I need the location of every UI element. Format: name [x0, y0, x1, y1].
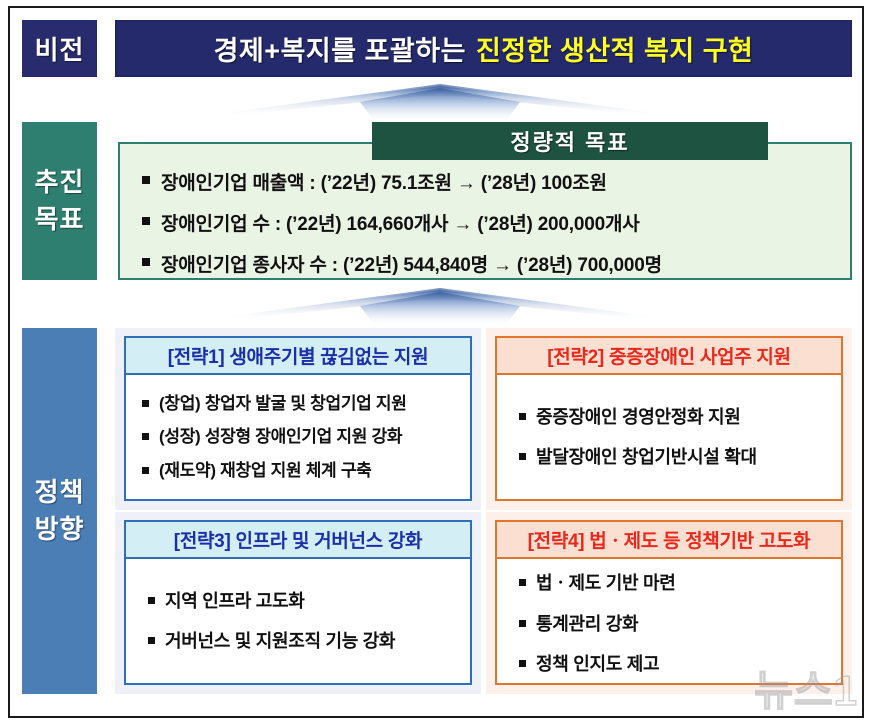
- goal-item-text: 장애인기업 수 : (’22년) 164,660개사 → (’28년) 200,…: [161, 209, 640, 236]
- vision-tag-label: 비전: [22, 20, 97, 77]
- strategy-item-text: (성장) 성장형 장애인기업 지원 강화: [159, 426, 402, 447]
- strategy-item-text: 통계관리 강화: [536, 613, 638, 636]
- strategy-box-2[interactable]: [전략2] 중증장애인 사업주 지원 중증장애인 경영안정화 지원 발달장애인 …: [495, 336, 843, 501]
- strategy-list-item: 지역 인프라 고도화: [148, 590, 460, 613]
- vision-banner: 경제+복지를 포괄하는 진정한 생산적 복지 구현: [115, 20, 852, 77]
- strategy-list-item: (성장) 성장형 장애인기업 지원 강화: [142, 426, 460, 447]
- strategy-item-text: 중증장애인 경영안정화 지원: [536, 406, 741, 429]
- strategy-list-item: 중증장애인 경영안정화 지원: [519, 406, 831, 429]
- goal-list-item: 장애인기업 종사자 수 : (’22년) 544,840명 → (’28년) 7…: [142, 250, 842, 277]
- goal-list-item: 장애인기업 매출액 : (’22년) 75.1조원 → (’28년) 100조원: [142, 168, 842, 195]
- square-bullet-icon: [142, 176, 150, 184]
- strategy-3-header: [전략3] 인프라 및 거버넌스 강화: [126, 522, 470, 559]
- square-bullet-icon: [148, 637, 155, 644]
- strategy-item-text: (창업) 창업자 발굴 및 창업기업 지원: [159, 393, 407, 414]
- goals-tag-line-1: 추진: [35, 164, 85, 201]
- goal-item-text: 장애인기업 매출액 : (’22년) 75.1조원 → (’28년) 100조원: [161, 168, 607, 195]
- strategy-4-body: 법ㆍ제도 기반 마련 통계관리 강화 정책 인지도 제고: [497, 559, 841, 689]
- strategy-4-header: [전략4] 법ㆍ제도 등 정책기반 고도화: [497, 522, 841, 559]
- vision-banner-text-primary: 경제+복지를 포괄하는: [214, 29, 466, 68]
- strategy-box-4[interactable]: [전략4] 법ㆍ제도 등 정책기반 고도화 법ㆍ제도 기반 마련 통계관리 강화: [495, 520, 843, 685]
- strategy-item-text: 거버넌스 및 지원조직 기능 강화: [165, 630, 395, 653]
- strategy-list-item: 발달장애인 창업기반시설 확대: [519, 446, 831, 469]
- square-bullet-icon: [519, 453, 526, 460]
- policy-tag-label: 정책 방향: [22, 328, 97, 694]
- goals-tag-label: 추진 목표: [22, 122, 97, 280]
- chevron-arrow-up-icon-1: [230, 82, 650, 122]
- square-bullet-icon: [519, 579, 526, 586]
- strategy-item-text: 정책 인지도 제고: [536, 653, 659, 676]
- strategy-1-body: (창업) 창업자 발굴 및 창업기업 지원 (성장) 성장형 장애인기업 지원 …: [126, 375, 470, 499]
- strategy-list-item: 통계관리 강화: [519, 613, 831, 636]
- strategy-1-header: [전략1] 생애주기별 끊김없는 지원: [126, 338, 470, 375]
- strategy-item-text: (재도약) 재창업 지원 체계 구축: [159, 460, 372, 481]
- square-bullet-icon: [142, 433, 149, 440]
- strategy-cell-4: [전략4] 법ㆍ제도 등 정책기반 고도화 법ㆍ제도 기반 마련 통계관리 강화: [486, 512, 852, 694]
- strategy-list-item: 법ㆍ제도 기반 마련: [519, 572, 831, 595]
- square-bullet-icon: [142, 400, 149, 407]
- goal-list-item: 장애인기업 수 : (’22년) 164,660개사 → (’28년) 200,…: [142, 209, 842, 236]
- square-bullet-icon: [142, 258, 150, 266]
- policy-direction-section: 정책 방향 [전략1] 생애주기별 끊김없는 지원 (창업) 창업자 발굴 및 …: [22, 328, 852, 694]
- square-bullet-icon: [148, 597, 155, 604]
- strategy-cell-1: [전략1] 생애주기별 끊김없는 지원 (창업) 창업자 발굴 및 창업기업 지…: [115, 328, 481, 510]
- policy-tag-line-1: 정책: [35, 474, 85, 511]
- vision-banner-text-highlight: 진정한 생산적 복지 구현: [476, 29, 753, 68]
- policy-infographic-page: 비전 경제+복지를 포괄하는 진정한 생산적 복지 구현: [0, 0, 872, 726]
- policy-tag-line-2: 방향: [35, 511, 85, 548]
- vision-section: 비전 경제+복지를 포괄하는 진정한 생산적 복지 구현: [22, 20, 852, 77]
- square-bullet-icon: [519, 620, 526, 627]
- strategy-item-text: 지역 인프라 고도화: [165, 590, 304, 613]
- goal-item-text: 장애인기업 종사자 수 : (’22년) 544,840명 → (’28년) 7…: [161, 250, 662, 277]
- square-bullet-icon: [142, 467, 149, 474]
- goals-section: 추진 목표 정량적 목표 장애인기업 매출액 : (’22년) 75.1조원 →…: [22, 122, 852, 280]
- square-bullet-icon: [519, 660, 526, 667]
- strategy-cell-3: [전략3] 인프라 및 거버넌스 강화 지역 인프라 고도화 거버넌스 및 지원…: [115, 512, 481, 694]
- square-bullet-icon: [519, 413, 526, 420]
- strategy-grid: [전략1] 생애주기별 끊김없는 지원 (창업) 창업자 발굴 및 창업기업 지…: [115, 328, 852, 694]
- strategy-item-text: 발달장애인 창업기반시설 확대: [536, 446, 757, 469]
- goals-list: 장애인기업 매출액 : (’22년) 75.1조원 → (’28년) 100조원…: [142, 168, 842, 291]
- strategy-item-text: 법ㆍ제도 기반 마련: [536, 572, 675, 595]
- strategy-list-item: (창업) 창업자 발굴 및 창업기업 지원: [142, 393, 460, 414]
- square-bullet-icon: [142, 217, 150, 225]
- strategy-box-1[interactable]: [전략1] 생애주기별 끊김없는 지원 (창업) 창업자 발굴 및 창업기업 지…: [124, 336, 472, 501]
- strategy-list-item: (재도약) 재창업 지원 체계 구축: [142, 460, 460, 481]
- strategy-box-3[interactable]: [전략3] 인프라 및 거버넌스 강화 지역 인프라 고도화 거버넌스 및 지원…: [124, 520, 472, 685]
- strategy-list-item: 정책 인지도 제고: [519, 653, 831, 676]
- goals-tag-line-2: 목표: [35, 201, 85, 238]
- strategy-2-header: [전략2] 중증장애인 사업주 지원: [497, 338, 841, 375]
- strategy-3-body: 지역 인프라 고도화 거버넌스 및 지원조직 기능 강화: [126, 559, 470, 683]
- strategy-cell-2: [전략2] 중증장애인 사업주 지원 중증장애인 경영안정화 지원 발달장애인 …: [486, 328, 852, 510]
- strategy-2-body: 중증장애인 경영안정화 지원 발달장애인 창업기반시설 확대: [497, 375, 841, 499]
- chevron-arrow-up-icon-2: [230, 286, 650, 326]
- strategy-list-item: 거버넌스 및 지원조직 기능 강화: [148, 630, 460, 653]
- goals-header-label: 정량적 목표: [372, 122, 768, 160]
